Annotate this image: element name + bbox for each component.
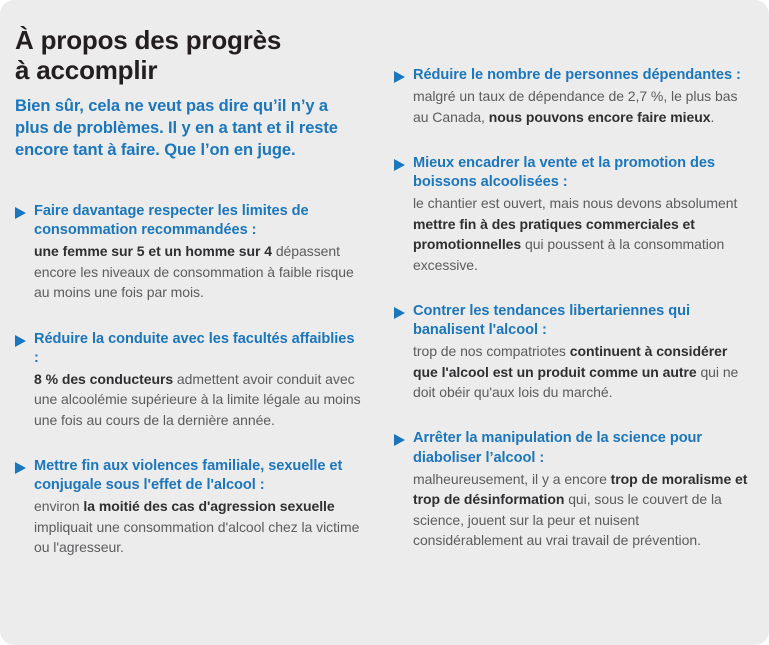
bullet-item-body: malheureusement, il y a encore trop de m… [413,469,751,551]
bullet-item-heading: Contrer les tendances libertariennes qui… [413,302,751,340]
bullet-item-heading: Faire davantage respecter les limites de… [34,202,363,240]
bullet-item-body: 8 % des conducteurs admettent avoir cond… [34,369,363,430]
bullet-item-heading: Mettre fin aux violences familiale, sexu… [34,457,363,495]
triangle-right-bullet-icon [394,71,405,83]
bullet-item: Contrer les tendances libertariennes qui… [394,302,751,403]
triangle-right-bullet-icon [394,434,405,446]
bullet-body-emphasis: une femme sur 5 et un homme sur 4 [34,243,272,259]
left-bullet-list: Faire davantage respecter les limites de… [15,202,363,558]
bullet-item-body: environ la moitié des cas d'agression se… [34,496,363,557]
left-column: À propos des progrès à accomplir Bien sû… [0,0,385,558]
triangle-right-bullet-icon [394,307,405,319]
triangle-right-bullet-icon [394,159,405,171]
bullet-body-text: impliquait une consommation d'alcool che… [34,519,359,555]
bullet-item-heading: Mieux encadrer la vente et la promotion … [413,154,751,192]
bullet-item: Mieux encadrer la vente et la promotion … [394,154,751,275]
info-panel: À propos des progrès à accomplir Bien sû… [0,0,769,645]
bullet-item: Faire davantage respecter les limites de… [15,202,363,303]
intro-paragraph: Bien sûr, cela ne veut pas dire qu’il n’… [15,96,363,162]
bullet-item: Réduire la conduite avec les facultés af… [15,330,363,431]
bullet-item-heading: Réduire la conduite avec les facultés af… [34,330,363,368]
bullet-item-heading: Réduire le nombre de personnes dépendant… [413,66,751,85]
page-title: À propos des progrès à accomplir [15,26,363,85]
bullet-item-heading: Arrêter la manipulation de la science po… [413,429,751,467]
bullet-item-body: malgré un taux de dépendance de 2,7 %, l… [413,86,751,127]
page-title-line-1: À propos des progrès [15,26,363,56]
triangle-right-bullet-icon [15,462,26,474]
bullet-item: Mettre fin aux violences familiale, sexu… [15,457,363,558]
right-bullet-list: Réduire le nombre de personnes dépendant… [394,66,751,550]
bullet-item: Réduire le nombre de personnes dépendant… [394,66,751,127]
page-title-line-2: à accomplir [15,56,363,86]
right-column: Réduire le nombre de personnes dépendant… [385,0,769,550]
bullet-item: Arrêter la manipulation de la science po… [394,429,751,550]
bullet-item-body: le chantier est ouvert, mais nous devons… [413,193,751,275]
bullet-body-emphasis: la moitié des cas d'agression sexuelle [83,498,334,514]
bullet-body-emphasis: 8 % des conducteurs [34,371,173,387]
bullet-item-body: trop de nos compatriotes continuent à co… [413,341,751,402]
bullet-body-text: trop de nos compatriotes [413,343,570,359]
bullet-body-text: . [710,109,714,125]
triangle-right-bullet-icon [15,335,26,347]
bullet-body-text: malheureusement, il y a encore [413,471,611,487]
two-column-layout: À propos des progrès à accomplir Bien sû… [0,0,769,645]
triangle-right-bullet-icon [15,207,26,219]
bullet-body-emphasis: nous pouvons encore faire mieux [489,109,711,125]
bullet-body-text: environ [34,498,83,514]
bullet-item-body: une femme sur 5 et un homme sur 4 dépass… [34,241,363,302]
bullet-body-text: le chantier est ouvert, mais nous devons… [413,195,737,211]
